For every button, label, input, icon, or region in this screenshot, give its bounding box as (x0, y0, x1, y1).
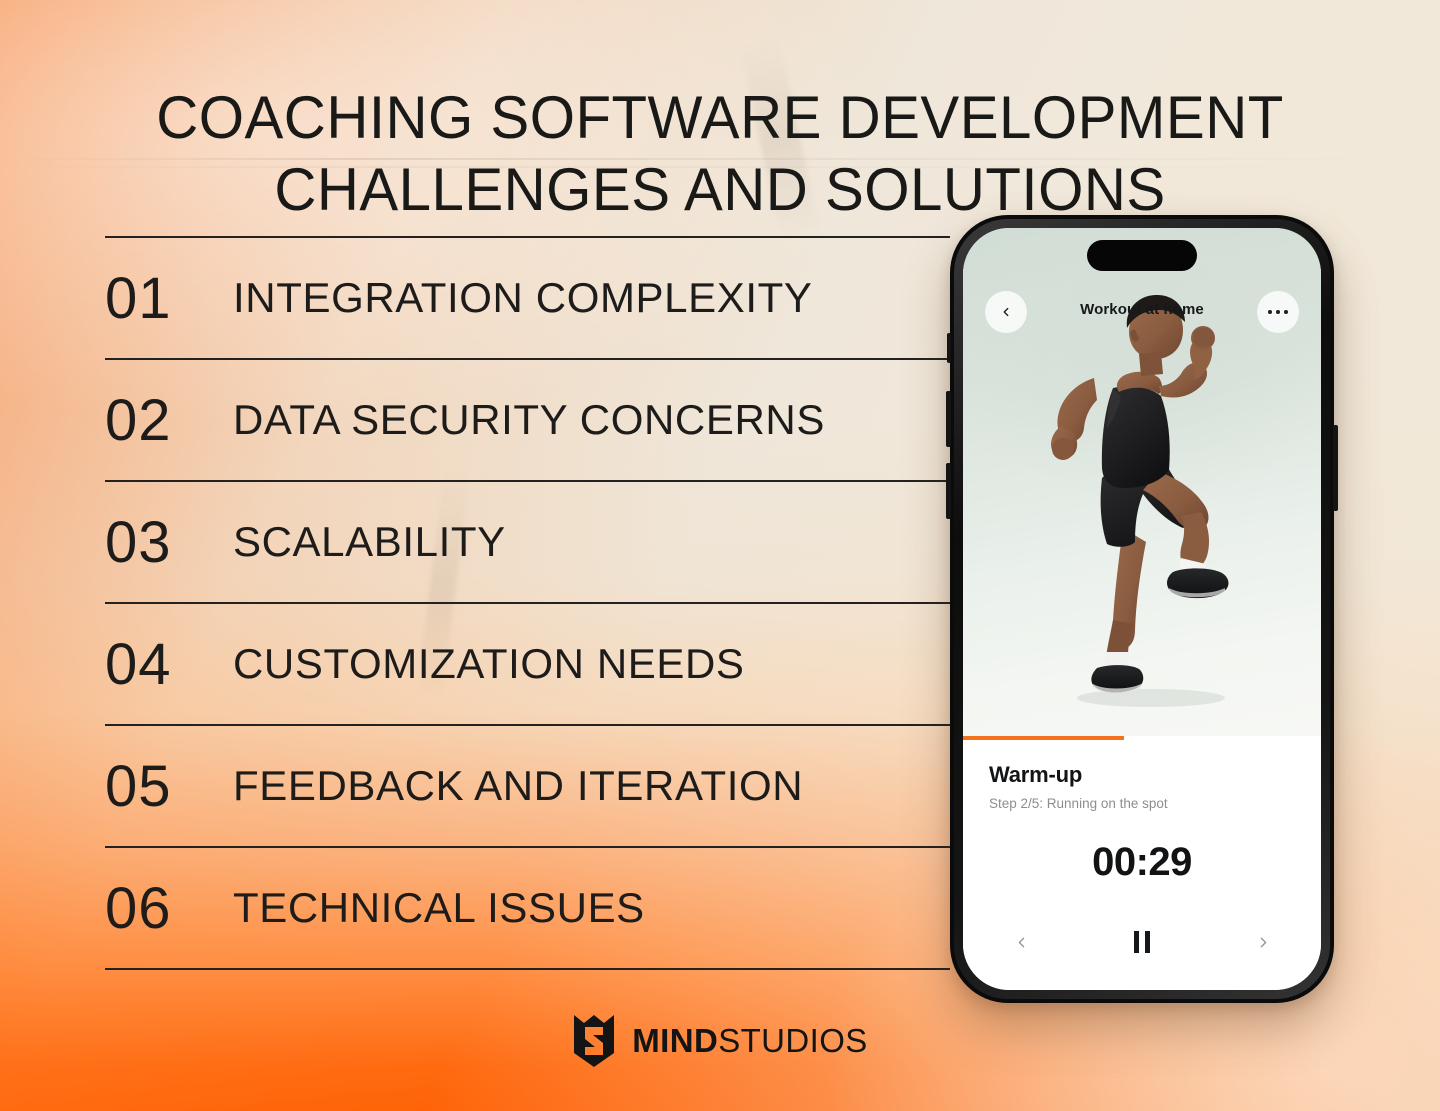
workout-progress-track[interactable] (963, 736, 1321, 740)
phone-silent-switch[interactable] (947, 333, 951, 363)
list-item-number: 04 (105, 631, 233, 698)
list-item-label: DATA SECURITY CONCERNS (233, 396, 825, 444)
list-item-number: 06 (105, 875, 233, 942)
brand-wordmark: MINDSTUDIOS (632, 1022, 867, 1060)
list-item[interactable]: 06 TECHNICAL ISSUES (105, 848, 950, 968)
workout-timer: 00:29 (963, 840, 1321, 885)
list-item-number: 02 (105, 387, 233, 454)
list-item[interactable]: 04 CUSTOMIZATION NEEDS (105, 604, 950, 724)
pause-icon (1134, 931, 1150, 953)
page-title: COACHING SOFTWARE DEVELOPMENT CHALLENGES… (22, 82, 1419, 225)
brand-name-bold: MIND (632, 1022, 718, 1059)
list-item-number: 03 (105, 509, 233, 576)
workout-controls (963, 922, 1321, 962)
phone-volume-down-button[interactable] (946, 463, 951, 519)
chevron-right-icon (1255, 934, 1272, 951)
workout-step-title: Warm-up (989, 762, 1082, 788)
workout-step-subtitle: Step 2/5: Running on the spot (989, 796, 1168, 811)
pause-button[interactable] (1122, 922, 1162, 962)
challenges-list: 01 INTEGRATION COMPLEXITY 02 DATA SECURI… (105, 236, 950, 970)
page-title-line-1: COACHING SOFTWARE DEVELOPMENT (156, 84, 1284, 151)
list-item-label: TECHNICAL ISSUES (233, 884, 645, 932)
more-options-button[interactable] (1257, 291, 1299, 333)
phone-power-button[interactable] (1333, 425, 1338, 511)
brand-footer: MINDSTUDIOS (0, 1013, 1440, 1069)
chevron-left-icon (1013, 934, 1030, 951)
mind-studios-shield-icon (572, 1013, 616, 1069)
list-divider (105, 968, 950, 970)
list-item[interactable]: 02 DATA SECURITY CONCERNS (105, 360, 950, 480)
brand-name-regular: STUDIOS (718, 1022, 867, 1059)
list-item-label: SCALABILITY (233, 518, 506, 566)
list-item[interactable]: 05 FEEDBACK AND ITERATION (105, 726, 950, 846)
list-item-label: INTEGRATION COMPLEXITY (233, 274, 812, 322)
list-item-number: 01 (105, 265, 233, 332)
infographic-canvas: COACHING SOFTWARE DEVELOPMENT CHALLENGES… (0, 0, 1440, 1111)
list-item[interactable]: 01 INTEGRATION COMPLEXITY (105, 238, 950, 358)
phone-mockup: Workout at home Warm-up Step 2/5: Runnin… (950, 215, 1334, 1003)
dynamic-island (1087, 240, 1197, 271)
list-item-label: FEEDBACK AND ITERATION (233, 762, 803, 810)
list-item-number: 05 (105, 753, 233, 820)
more-horizontal-icon (1268, 310, 1289, 315)
workout-progress-fill (963, 736, 1124, 740)
workout-detail-panel: Warm-up Step 2/5: Running on the spot 00… (963, 740, 1321, 990)
previous-step-button[interactable] (1001, 922, 1041, 962)
next-step-button[interactable] (1243, 922, 1283, 962)
phone-volume-up-button[interactable] (946, 391, 951, 447)
phone-screen: Workout at home Warm-up Step 2/5: Runnin… (963, 228, 1321, 990)
phone-nav-bar: Workout at home (963, 291, 1321, 335)
list-item[interactable]: 03 SCALABILITY (105, 482, 950, 602)
list-item-label: CUSTOMIZATION NEEDS (233, 640, 745, 688)
